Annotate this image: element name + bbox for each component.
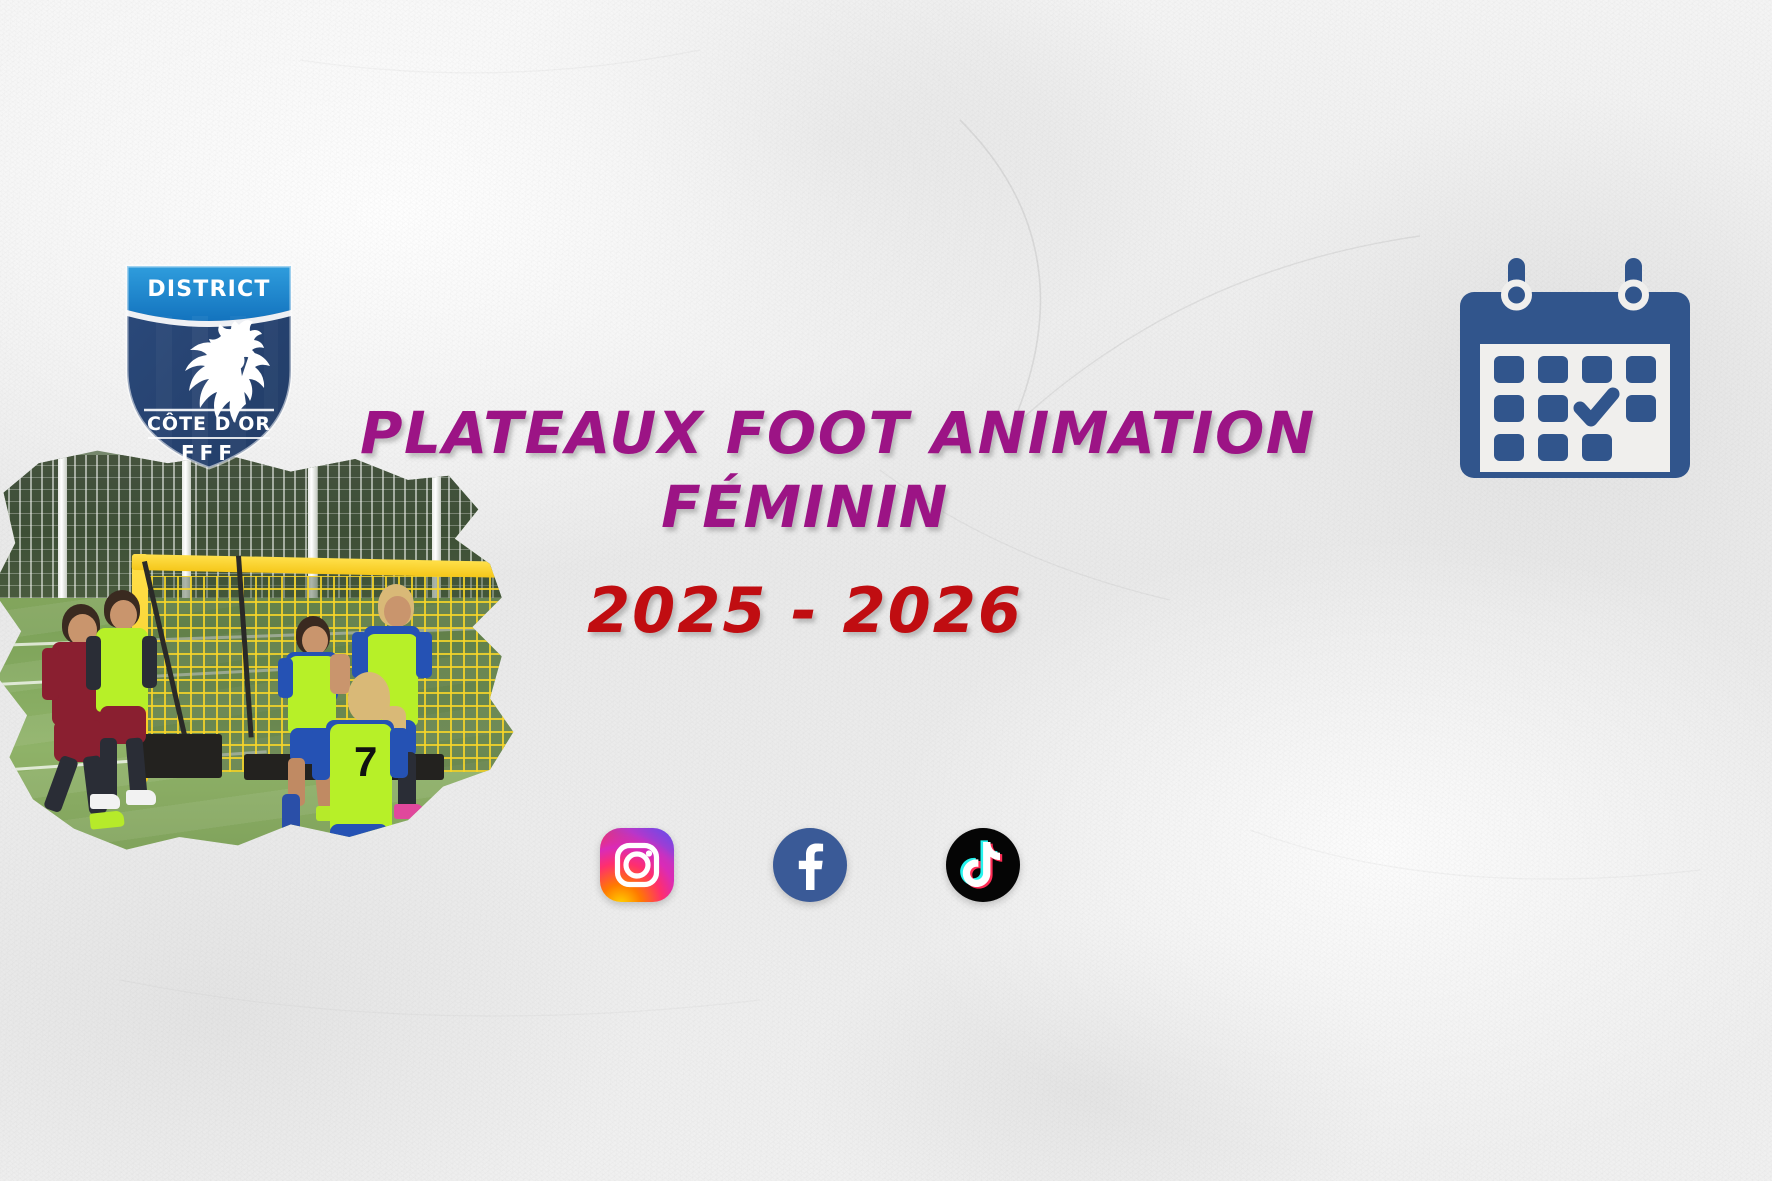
instagram-icon[interactable] [600, 828, 674, 902]
poster-title-line-2: FÉMININ [360, 470, 1250, 544]
goal-base [136, 734, 222, 778]
bib-number: 7 [354, 738, 377, 786]
poster-title-line-1: PLATEAUX FOOT ANIMATION [360, 396, 1250, 470]
title-block: PLATEAUX FOOT ANIMATION FÉMININ 2025 - 2… [360, 396, 1250, 647]
calendar-check-icon [1460, 258, 1690, 490]
shield-label-cote-dor: CÔTE D'OR [147, 411, 271, 435]
poster-canvas: 7 [0, 0, 1772, 1181]
shield-label-fff: FFF [181, 441, 237, 465]
facebook-icon[interactable] [773, 828, 847, 902]
tiktok-icon[interactable] [946, 828, 1020, 902]
district-cote-dor-fff-logo: DISTRICT CÔTE D'OR FFF [118, 252, 300, 474]
social-links [600, 828, 1020, 902]
season-label: 2025 - 2026 [360, 574, 1250, 647]
shield-label-district: DISTRICT [147, 277, 270, 302]
fence-post [58, 455, 67, 598]
